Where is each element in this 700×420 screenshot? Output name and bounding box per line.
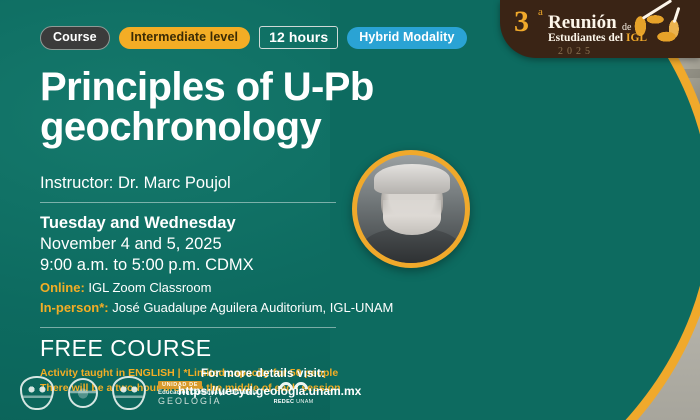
instructor-line: Instructor: Dr. Marc Poujol <box>40 174 470 193</box>
content-panel: Course Intermediate level 12 hours Hybri… <box>0 0 470 420</box>
leaves-icon <box>628 6 690 54</box>
tag-course: Course <box>40 26 110 50</box>
details-url[interactable]: https://uecyd.geologia.unam.mx <box>178 384 348 398</box>
tag-duration: 12 hours <box>259 26 338 49</box>
redec-light: UNAM <box>294 399 313 405</box>
badge-year: 2025 <box>558 46 594 57</box>
details-block: For more details visit: https://uecyd.ge… <box>178 368 348 398</box>
badge-ordinal: a <box>538 6 543 18</box>
mode-inperson-value: José Guadalupe Aguilera Auditorium, IGL-… <box>112 300 393 315</box>
mode-inperson: In-person*: José Guadalupe Aguilera Audi… <box>40 299 470 318</box>
event-badge: 3 a Reunión de Estudiantes del IGL 2025 <box>500 0 700 58</box>
schedule-time: 9:00 a.m. to 5:00 p.m. CDMX <box>40 255 470 276</box>
divider-secondary <box>40 327 336 328</box>
schedule-days: Tuesday and Wednesday <box>40 213 470 234</box>
mode-online: Online: IGL Zoom Classroom <box>40 279 470 298</box>
tag-modality: Hybrid Modality <box>347 27 466 49</box>
price-label: FREE COURSE <box>40 335 470 362</box>
mode-online-label: Online: <box>40 280 85 295</box>
geologia-seal-icon <box>112 376 146 410</box>
redec-bold: REDEC <box>274 399 295 405</box>
badge-line2-prefix: Estudiantes del <box>548 32 626 44</box>
unam-seal-icon <box>20 376 54 410</box>
schedule-dates: November 4 and 5, 2025 <box>40 234 470 255</box>
divider <box>40 202 336 203</box>
details-prompt: For more details visit: <box>178 368 348 380</box>
institute-seal-icon <box>66 376 100 410</box>
course-poster: 3 a Reunión de Estudiantes del IGL 2025 … <box>0 0 700 420</box>
mode-inperson-label: In-person*: <box>40 300 109 315</box>
badge-number: 3 <box>514 7 529 37</box>
mode-online-value: IGL Zoom Classroom <box>88 280 211 295</box>
tag-level: Intermediate level <box>119 27 250 49</box>
badge-line1: Reunión <box>548 13 617 32</box>
tag-row: Course Intermediate level 12 hours Hybri… <box>40 26 470 50</box>
redec-label: REDEC UNAM <box>274 399 314 405</box>
event-badge-inner: 3 a Reunión de Estudiantes del IGL 2025 <box>500 0 700 58</box>
page-title: Principles of U-Pb geochronology <box>40 67 380 149</box>
